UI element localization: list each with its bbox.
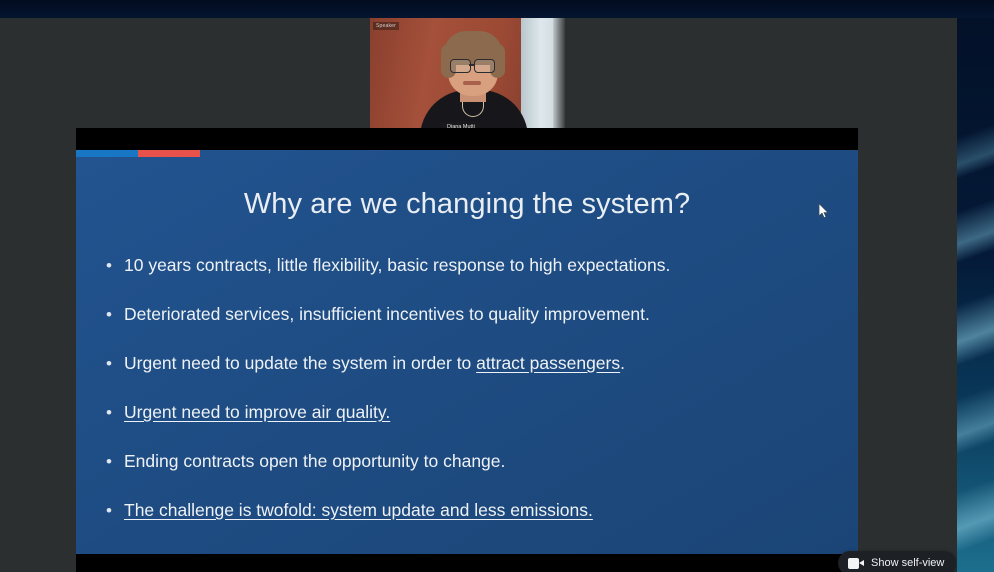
participant-mouth bbox=[463, 81, 481, 85]
slide-title: Why are we changing the system? bbox=[76, 188, 858, 221]
video-curtain-shadow bbox=[553, 18, 565, 134]
video-corner-label: Speaker bbox=[373, 22, 399, 30]
list-item: • Ending contracts open the opportunity … bbox=[102, 450, 840, 473]
video-meeting-window: Speaker Diana Mutti Why are we changing … bbox=[0, 18, 957, 572]
list-item: • The challenge is twofold: system updat… bbox=[102, 499, 840, 522]
bullet-text: Deteriorated services, insufficient ince… bbox=[124, 303, 650, 326]
bullet-marker: • bbox=[102, 254, 124, 277]
speaker-video-tile[interactable]: Speaker Diana Mutti bbox=[370, 18, 565, 134]
slide-accent-bar-red bbox=[138, 150, 200, 157]
bullet-marker: • bbox=[102, 303, 124, 326]
participant-glasses-bridge bbox=[469, 64, 474, 66]
bullet-text: Ending contracts open the opportunity to… bbox=[124, 450, 505, 473]
video-camera-icon bbox=[848, 558, 864, 569]
mouse-cursor bbox=[818, 203, 829, 219]
bullet-text: 10 years contracts, little flexibility, … bbox=[124, 254, 670, 277]
participant-glasses-right bbox=[474, 59, 495, 73]
bullet-marker: • bbox=[102, 499, 124, 522]
list-item: • Urgent need to improve air quality. bbox=[102, 401, 840, 424]
bullet-text-tail: . bbox=[620, 353, 625, 373]
list-item: • 10 years contracts, little flexibility… bbox=[102, 254, 840, 277]
bullet-text-plain: Urgent need to update the system in orde… bbox=[124, 353, 476, 373]
list-item: • Urgent need to update the system in or… bbox=[102, 352, 840, 375]
show-self-view-label: Show self-view bbox=[871, 557, 944, 569]
bullet-text: Urgent need to update the system in orde… bbox=[124, 352, 625, 375]
bullet-marker: • bbox=[102, 352, 124, 375]
bullet-text: Urgent need to improve air quality. bbox=[124, 401, 390, 424]
list-item: • Deteriorated services, insufficient in… bbox=[102, 303, 840, 326]
participant-glasses-left bbox=[450, 59, 471, 73]
bullet-marker: • bbox=[102, 450, 124, 473]
presentation-slide: Why are we changing the system? • 10 yea… bbox=[76, 150, 858, 554]
bullet-marker: • bbox=[102, 401, 124, 424]
bullet-text: The challenge is twofold: system update … bbox=[124, 499, 593, 522]
slide-bullet-list: • 10 years contracts, little flexibility… bbox=[102, 254, 840, 548]
desktop-top-strip bbox=[0, 0, 994, 18]
shared-screen-area[interactable]: Why are we changing the system? • 10 yea… bbox=[76, 128, 858, 572]
show-self-view-button[interactable]: Show self-view bbox=[838, 551, 956, 572]
bullet-text-underlined: attract passengers bbox=[476, 353, 620, 373]
screen: Speaker Diana Mutti Why are we changing … bbox=[0, 0, 994, 572]
